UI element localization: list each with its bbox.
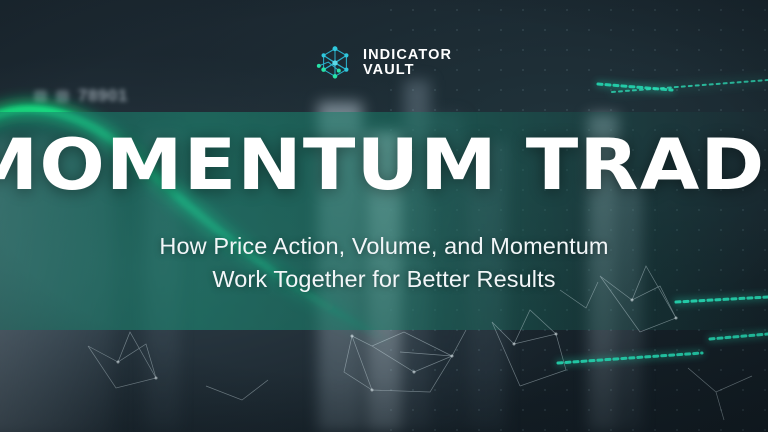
hero-title: MOMENTUM TRADING (0, 130, 768, 200)
brand-name: INDICATOR VAULT (363, 48, 452, 78)
brand-name-line2: VAULT (363, 63, 452, 78)
momentum-trading-banner: 78901 (0, 0, 768, 432)
brand-logo[interactable]: INDICATOR VAULT (0, 44, 768, 82)
brand-name-line1: INDICATOR (363, 48, 452, 63)
hero-subtitle: How Price Action, Volume, and Momentum W… (0, 230, 768, 297)
hero-subtitle-line1: How Price Action, Volume, and Momentum (0, 230, 768, 263)
hero-subtitle-line2: Work Together for Better Results (0, 263, 768, 296)
network-nodes-icon (316, 44, 354, 82)
banner-content: INDICATOR VAULT MOMENTUM TRADING How Pri… (0, 0, 768, 432)
